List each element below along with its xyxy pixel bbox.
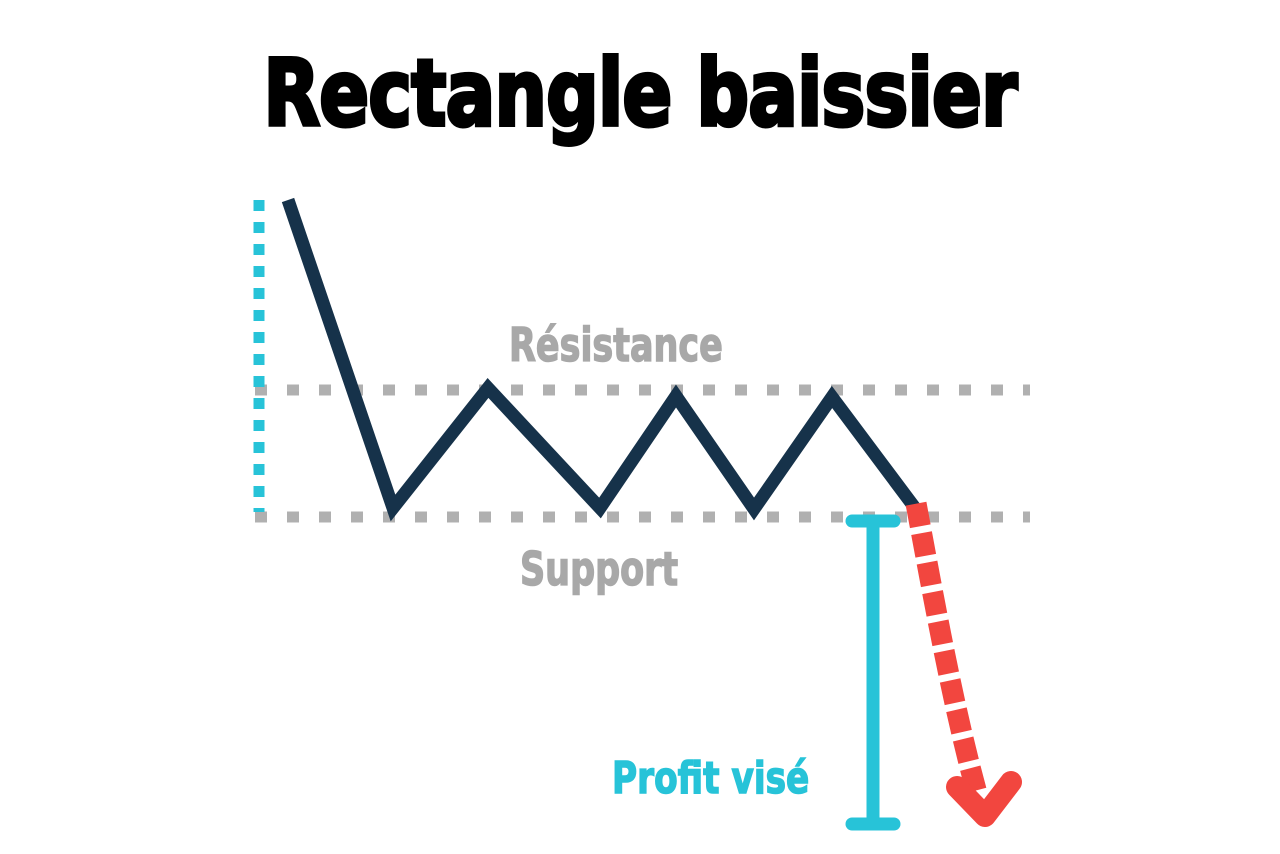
pattern-diagram [0, 0, 1280, 854]
chart-canvas: Rectangle baissier Résistance Support Pr… [0, 0, 1280, 854]
breakdown-arrow [918, 514, 1011, 816]
profit-target-measure [852, 521, 894, 824]
support-label: Support [520, 546, 678, 592]
breakdown-arrow-path [918, 514, 975, 786]
profit-target-label: Profit visé [612, 757, 809, 801]
resistance-label: Résistance [509, 322, 723, 368]
